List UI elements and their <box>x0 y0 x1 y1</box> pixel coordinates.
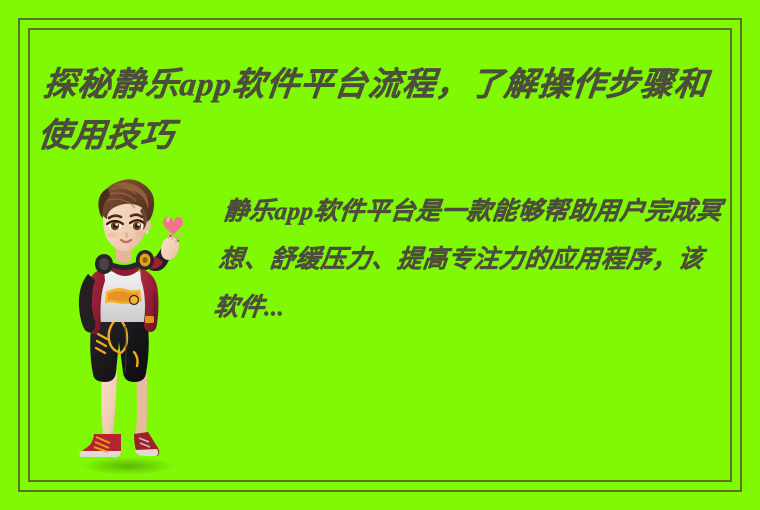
raised-hand-with-lollipop <box>161 217 183 260</box>
ear-stud <box>145 230 149 234</box>
article-summary: 静乐app软件平台是一款能够帮助用户完成冥想、舒缓压力、提高专注力的应用程序，该… <box>211 188 728 332</box>
left-shoe <box>80 434 122 457</box>
character-ground-shadow <box>82 457 174 475</box>
anime-boy-character-illustration <box>62 176 194 478</box>
tee-graphic <box>105 288 142 305</box>
article-title: 探秘静乐app软件平台流程，了解操作步骤和使用技巧 <box>35 60 738 162</box>
heart-lollipop <box>163 217 183 235</box>
article-card: 探秘静乐app软件平台流程，了解操作步骤和使用技巧 静乐app软件平台是一款能够… <box>0 0 760 510</box>
right-shoe <box>134 432 159 456</box>
